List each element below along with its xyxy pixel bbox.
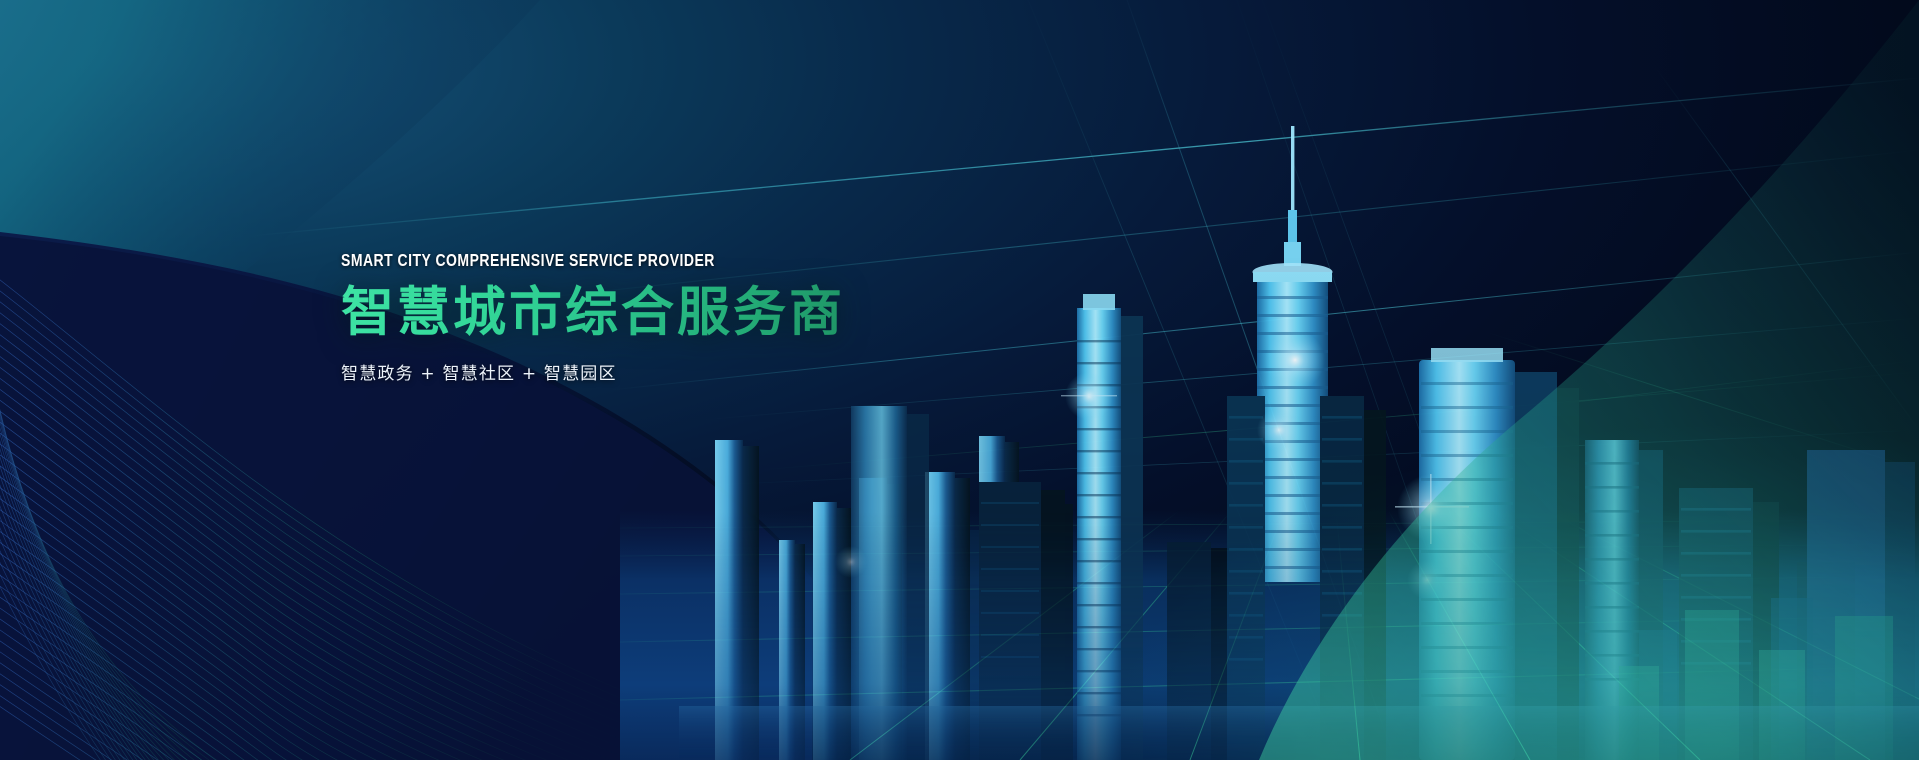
hero-subline: 智慧政务 + 智慧社区 + 智慧园区 [341, 359, 1081, 384]
decor-green-sweep [1219, 0, 1919, 760]
hero-headline: 智慧城市综合服务商 [341, 283, 1081, 343]
hero-eyebrow: SMART CITY COMPREHENSIVE SERVICE PROVIDE… [341, 252, 933, 270]
hero-banner: SMART CITY COMPREHENSIVE SERVICE PROVIDE… [0, 0, 1919, 760]
hero-copy: SMART CITY COMPREHENSIVE SERVICE PROVIDE… [341, 252, 1081, 384]
